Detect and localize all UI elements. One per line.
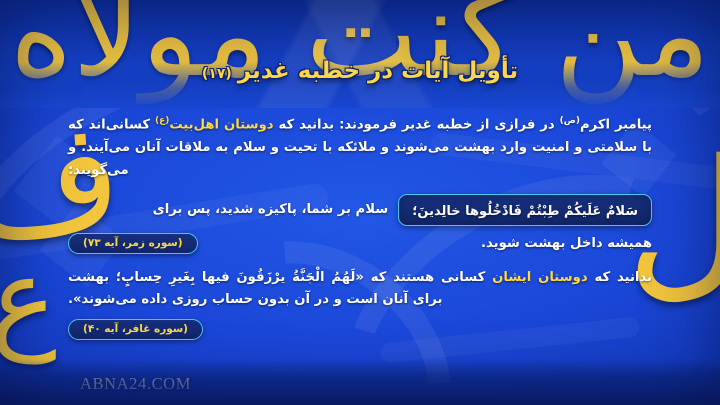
footer-bar: [0, 359, 720, 405]
verse-1-translation-line-1: سلام بر شما، پاکیزه شدید، پس برای: [68, 202, 388, 217]
left-calligraphy-icon-2: ع: [0, 252, 57, 347]
paragraph-1-highlight: دوستان اهل‌بیت: [169, 117, 273, 132]
paragraph-1-honorific-2: (ع): [155, 116, 169, 126]
infographic-canvas: من كنت مولاه ف ع ل تأویل آیات در خطبه غد…: [0, 0, 720, 405]
page-title: تأویل آیات در خطبه غدیر (۱۷): [0, 58, 720, 84]
verse-1-box: سَلامٌ عَلَیكُمْ طِبْتُمْ فَادْخُلُوها خ…: [398, 194, 652, 226]
verse-1-translation-line-2: همیشه داخل بهشت شوید.: [481, 236, 652, 251]
page-title-number: (۱۷): [202, 66, 232, 82]
paragraph-2-highlight: دوستان ایشان: [492, 270, 587, 285]
verse-2-source-badge[interactable]: (سوره غافر، آیه ۴۰): [68, 319, 203, 340]
paragraph-1: پیامبر اکرم(ص) در فرازی از خطبه غدیر فرم…: [68, 114, 652, 183]
paragraph-1-before: پیامبر اکرم: [580, 117, 652, 132]
verse-1-arabic: سَلامٌ عَلَیكُمْ طِبْتُمْ فَادْخُلُوها خ…: [412, 204, 638, 219]
paragraph-2-after: کسانی هستند که «لَهُمُ الْجَنَّةُ یرْزَق…: [68, 270, 492, 308]
paragraph-1-honorific-1: (ص): [560, 116, 580, 126]
top-banner: من كنت مولاه: [0, 0, 720, 108]
paragraph-2: بدانید که دوستان ایشان کسانی هستند که «ل…: [68, 267, 652, 312]
paragraph-2-before: بدانید که: [588, 270, 652, 285]
verse-1-row: سَلامٌ عَلَیكُمْ طِبْتُمْ فَادْخُلُوها خ…: [68, 194, 652, 226]
verse-2-source-row: (سوره غافر، آیه ۴۰): [68, 319, 652, 340]
verse-1-source-row: همیشه داخل بهشت شوید. (سوره زمر، آیه ۷۳): [68, 233, 652, 254]
paragraph-1-middle: در فرازی از خطبه غدیر فرمودند: بدانید که: [274, 117, 560, 132]
banner-calligraphy-icon: من كنت مولاه: [0, 0, 720, 108]
main-content: پیامبر اکرم(ص) در فرازی از خطبه غدیر فرم…: [68, 114, 652, 340]
page-title-text: تأویل آیات در خطبه غدیر: [238, 58, 518, 84]
verse-1-source-badge[interactable]: (سوره زمر، آیه ۷۳): [68, 233, 198, 254]
